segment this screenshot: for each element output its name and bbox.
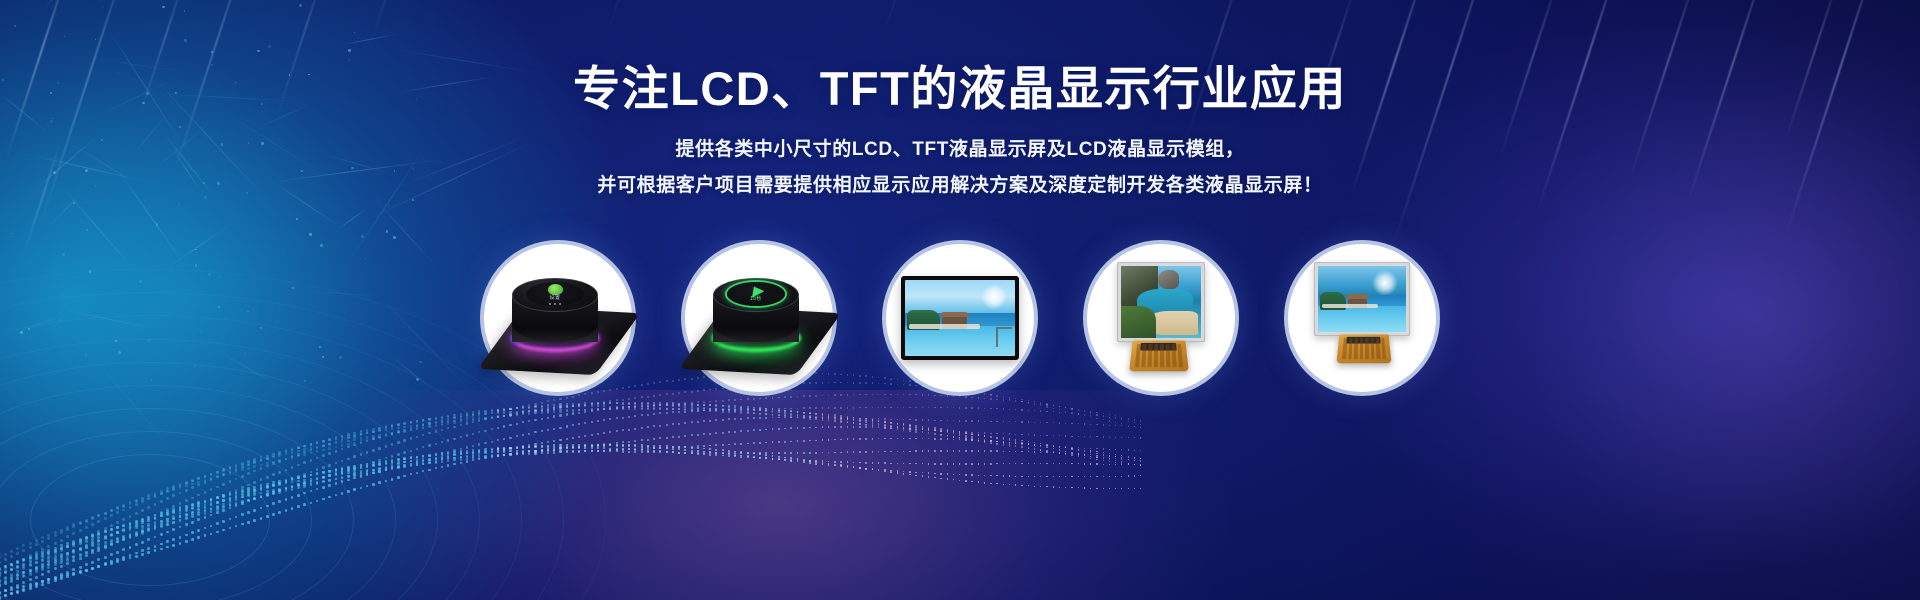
hero-banner: 专注LCD、TFT的液晶显示行业应用 提供各类中小尺寸的LCD、TFT液晶显示屏… — [0, 0, 1920, 600]
sun-glow — [1372, 270, 1398, 296]
speaker-screen-dots — [549, 303, 561, 305]
tft-panel-frame — [1314, 262, 1410, 336]
pool-water — [1318, 306, 1406, 332]
tft-panel-frame — [1117, 262, 1205, 342]
product-circle-smart-speaker-purple[interactable]: 设置 — [480, 240, 636, 396]
speaker-screen-label: 设置 — [549, 296, 560, 301]
pool-edge — [909, 324, 979, 329]
banner-subtitle-line-1: 提供各类中小尺寸的LCD、TFT液晶显示屏及LCD液晶显示模组， — [0, 133, 1920, 167]
cloud-icon — [548, 284, 563, 295]
product-image-smart-speaker-green: 10秒 — [685, 244, 833, 392]
product-image-tft-landscape — [1288, 244, 1436, 392]
product-circle-row: 设置 10秒 — [0, 240, 1920, 396]
product-circle-tft-landscape[interactable] — [1284, 240, 1440, 396]
tft-panel-screen — [1318, 266, 1406, 332]
product-circle-tft-portrait[interactable] — [1083, 240, 1239, 396]
pool-edge — [1322, 304, 1378, 308]
fpc-ribbon-connector — [1129, 341, 1189, 372]
speaker-round-display: 10秒 — [727, 282, 785, 306]
tft-panel-screen — [1121, 266, 1201, 338]
lcd-monitor-bezel — [901, 276, 1019, 360]
banner-subtitle-line-2: 并可根据客户项目需要提供相应显示应用解决方案及深度定制开发各类液晶显示屏！ — [0, 169, 1920, 203]
sun-glow — [981, 284, 1007, 310]
fpc-traces — [1135, 344, 1183, 367]
speaker-round-display: 设置 — [526, 282, 584, 306]
product-image-smart-speaker-purple: 设置 — [484, 244, 632, 392]
product-image-lcd-monitor — [886, 244, 1034, 392]
lcd-monitor-screen — [905, 280, 1015, 356]
product-image-tft-portrait — [1087, 244, 1235, 392]
banner-title: 专注LCD、TFT的液晶显示行业应用 — [0, 62, 1920, 117]
product-circle-smart-speaker-green[interactable]: 10秒 — [681, 240, 837, 396]
railing — [996, 327, 1011, 347]
product-circle-lcd-monitor[interactable] — [882, 240, 1038, 396]
fpc-ribbon-connector — [1336, 334, 1391, 363]
rock-formation — [1158, 270, 1179, 289]
vegetation — [1121, 306, 1156, 338]
banner-copy: 专注LCD、TFT的液晶显示行业应用 提供各类中小尺寸的LCD、TFT液晶显示屏… — [0, 62, 1920, 203]
background-glow-bottom — [330, 390, 1230, 600]
fpc-traces — [1342, 338, 1386, 360]
